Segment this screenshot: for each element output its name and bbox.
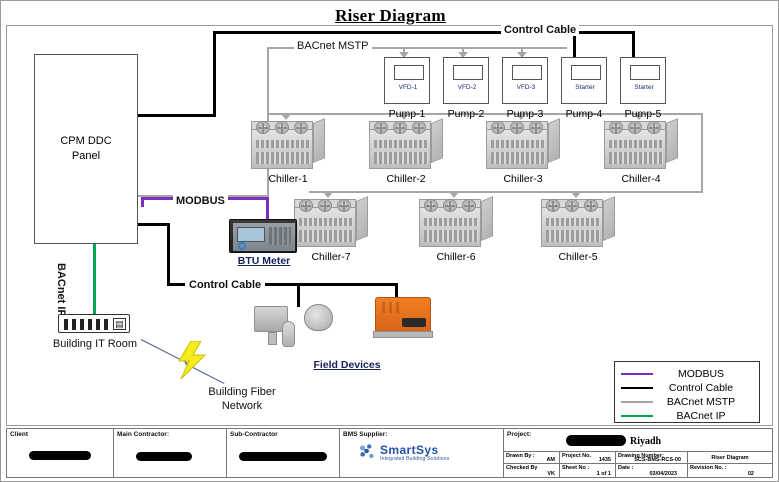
control-cable-segment [167, 223, 170, 285]
date-cell: Date : 03/04/2023 [616, 464, 688, 477]
fan-icon [275, 121, 289, 134]
chiller-unit[interactable]: Chiller-1 [251, 121, 325, 171]
client-caption: Client [10, 431, 28, 438]
drive-label: Starter [621, 84, 667, 91]
chiller-louvers [374, 152, 428, 164]
drawing-title-value: Riser Diagram [688, 455, 772, 461]
chiller-side [666, 118, 678, 163]
title-block: Client Main Contractor: Sub-Contractor B… [6, 428, 773, 478]
bus-label-modbus: MODBUS [173, 195, 228, 207]
checked-by-caption: Checked By [506, 465, 538, 471]
control-cable-segment [138, 114, 216, 117]
chiller-label: Chiller-1 [247, 173, 329, 185]
drawn-by-caption: Drawn By : [506, 453, 535, 459]
chiller-side [548, 118, 560, 163]
fan-icon [584, 199, 598, 212]
fan-icon [299, 199, 313, 212]
project-no-cell: Project No. 1435 [560, 452, 616, 465]
title-block-row-1: Drawn By : AM Project No. 1435 Drawing N… [504, 452, 772, 465]
legend-swatch [621, 387, 653, 390]
chiller-body [369, 129, 431, 169]
chiller-louvers [609, 152, 663, 164]
chiller-louvers [546, 230, 600, 242]
riser-diagram-page: Riser Diagram CPM DDC Panel [0, 0, 779, 482]
project-city: Riyadh [630, 436, 661, 447]
legend-row-4: BACnet IP [621, 409, 753, 423]
bus-label-control-cable-mid: Control Cable [185, 279, 265, 291]
control-cable-segment [213, 31, 216, 117]
chiller-unit[interactable]: Chiller-2 [369, 121, 443, 171]
fan-icon [491, 121, 505, 134]
fan-icon [628, 121, 642, 134]
drive-label: VFD-2 [444, 84, 490, 91]
sheet-no-value: 1 of 1 [597, 471, 611, 477]
chiller-label: Chiller-3 [482, 173, 564, 185]
chiller-side [481, 196, 493, 241]
drive-display [630, 65, 660, 80]
fan-icon [647, 121, 661, 134]
panel-label-line2: Panel [72, 150, 100, 162]
lightning-bolt-icon [177, 341, 217, 379]
chiller-louvers [256, 140, 310, 148]
fan-icon [374, 121, 388, 134]
drive-display [394, 65, 424, 80]
immersion-sensor-icon [282, 321, 295, 347]
drive-display [453, 65, 483, 80]
chiller-side [431, 118, 443, 163]
project-name-redacted [566, 435, 626, 446]
fiber-network-label: Building Fiber Network [187, 386, 297, 414]
chiller-louvers [299, 218, 353, 226]
chiller-side [356, 196, 368, 241]
supplier-name: SmartSys [380, 443, 439, 457]
legend-swatch [621, 415, 653, 418]
drive-label: Starter [562, 84, 608, 91]
control-cable-segment [138, 223, 170, 226]
drive-display [571, 65, 601, 80]
bacnet-arrow-icon [281, 114, 291, 120]
legend-row-3: BACnet MSTP [621, 395, 753, 409]
building-fiber-link [141, 331, 227, 389]
chiller-louvers [491, 152, 545, 164]
panel-label-line1: CPM DDC [60, 135, 111, 147]
building-it-switch[interactable]: ▤ [58, 314, 130, 333]
chiller-unit[interactable]: Chiller-7 [294, 199, 368, 249]
drive-display [512, 65, 542, 80]
bacnet-arrow-icon [323, 192, 333, 198]
drawing-number-cell: Drawing Number: SCS-BMS-RCS-00 [616, 452, 688, 465]
chiller-louvers [546, 218, 600, 226]
chiller-body [604, 129, 666, 169]
pressure-sensor-icon [304, 304, 333, 331]
bacnet-mstp-chiller-bus [309, 191, 702, 193]
project-no-value: 1435 [599, 457, 611, 463]
legend-label: BACnet IP [653, 410, 753, 422]
chiller-louvers [299, 230, 353, 242]
sub-contractor-caption: Sub-Contractor [230, 431, 278, 438]
fan-icon [565, 199, 579, 212]
fan-icon [424, 199, 438, 212]
revision-cell: Revision No. : 02 [688, 464, 772, 477]
network-uplink-icon: ▤ [113, 318, 126, 330]
legend-swatch [621, 401, 653, 404]
drive-1[interactable]: VFD-1 [384, 57, 430, 104]
title-block-sub-contractor: Sub-Contractor [226, 428, 339, 478]
bacnet-mstp-segment [701, 113, 703, 193]
drawn-by-value: AM [546, 457, 555, 463]
btu-meter-face [233, 223, 295, 251]
project-row: Project: Riyadh [504, 429, 772, 452]
chiller-body [419, 207, 481, 247]
checked-by-cell: Checked By VK [504, 464, 560, 477]
chiller-unit[interactable]: Chiller-5 [541, 199, 615, 249]
it-room-label: Building IT Room [47, 338, 143, 350]
valve-actuator-icon [375, 297, 431, 333]
fan-icon [443, 199, 457, 212]
legend: MODBUSControl CableBACnet MSTPBACnet IP [614, 361, 760, 423]
revision-caption: Revision No. : [690, 465, 727, 471]
chiller-louvers [609, 140, 663, 148]
date-caption: Date : [618, 465, 633, 471]
drive-4[interactable]: Starter [561, 57, 607, 104]
legend-row-2: Control Cable [621, 381, 753, 395]
fan-icon [412, 121, 426, 134]
drive-label: VFD-3 [503, 84, 549, 91]
btu-meter-keypad [269, 227, 291, 245]
btu-meter-logo-icon [238, 242, 246, 250]
control-cable-drop [297, 283, 300, 307]
bus-label-bacnet-mstp: BACnet MSTP [294, 40, 372, 52]
chiller-label: Chiller-6 [415, 251, 497, 263]
globe-icon [356, 442, 378, 462]
switch-ports-icon [64, 319, 108, 330]
sheet-no-cell: Sheet No : 1 of 1 [560, 464, 616, 477]
btu-meter[interactable] [229, 219, 297, 253]
title-block-project: Project: Riyadh Drawn By : AM Project No… [503, 428, 773, 478]
chiller-label: Chiller-2 [365, 173, 447, 185]
chiller-label: Chiller-5 [537, 251, 619, 263]
bacnet-ip-segment [93, 244, 96, 316]
bms-supplier-caption: BMS Supplier: [343, 431, 387, 438]
chiller-side [603, 196, 615, 241]
bacnet-arrow-icon [449, 192, 459, 198]
chiller-body [294, 207, 356, 247]
legend-label: MODBUS [653, 368, 753, 380]
sheet-no-caption: Sheet No : [562, 465, 589, 471]
sub-contractor-name-redacted [239, 452, 327, 461]
pump-label-5: Pump-5 [613, 108, 673, 120]
chiller-unit[interactable]: Chiller-3 [486, 121, 560, 171]
chiller-label: Chiller-4 [600, 173, 682, 185]
project-no-caption: Project No. [562, 453, 591, 459]
pump-label-2: Pump-2 [436, 108, 496, 120]
title-block-row-2: Checked By VK Sheet No : 1 of 1 Date : 0… [504, 464, 772, 477]
control-cable-drop-pump5 [632, 31, 635, 58]
chiller-louvers [424, 218, 478, 226]
title-block-bms-supplier: BMS Supplier: SmartSys Integrated Buildi… [339, 428, 503, 478]
revision-value: 02 [748, 471, 754, 477]
fan-icon [609, 121, 623, 134]
chiller-louvers [256, 152, 310, 164]
fan-icon [510, 121, 524, 134]
btu-meter-label: BTU Meter [223, 255, 305, 267]
date-value: 03/04/2023 [649, 471, 677, 477]
drive-label: VFD-1 [385, 84, 431, 91]
client-name-redacted [29, 451, 91, 460]
chiller-unit[interactable]: Chiller-4 [604, 121, 678, 171]
cpm-ddc-panel[interactable]: CPM DDC Panel [34, 54, 138, 244]
main-contractor-name-redacted [136, 452, 192, 461]
title-block-client: Client [6, 428, 113, 478]
chiller-side [313, 118, 325, 163]
legend-row-1: MODBUS [621, 367, 753, 381]
chiller-body [251, 129, 313, 169]
fan-icon [393, 121, 407, 134]
chiller-body [486, 129, 548, 169]
fan-icon [318, 199, 332, 212]
main-contractor-caption: Main Contractor: [117, 431, 169, 438]
modbus-segment [266, 197, 269, 221]
fan-icon [256, 121, 270, 134]
smartsys-logo: SmartSys Integrated Building Solutions [356, 441, 474, 465]
legend-label: Control Cable [653, 382, 753, 394]
title-block-main-contractor: Main Contractor: [113, 428, 226, 478]
fan-icon [462, 199, 476, 212]
chiller-louvers [374, 140, 428, 148]
bacnet-arrow-icon [571, 192, 581, 198]
fan-icon [546, 199, 560, 212]
drawing-title-cell: Riser Diagram [688, 452, 772, 465]
chiller-louvers [424, 230, 478, 242]
drive-3[interactable]: VFD-3 [502, 57, 548, 104]
supplier-tagline: Integrated Building Solutions [380, 456, 449, 462]
chiller-unit[interactable]: Chiller-6 [419, 199, 493, 249]
fan-icon [529, 121, 543, 134]
chiller-body [541, 207, 603, 247]
drawn-by-cell: Drawn By : AM [504, 452, 560, 465]
page-title: Riser Diagram [1, 6, 779, 26]
bus-label-control-cable-top: Control Cable [501, 24, 579, 36]
pump-label-4: Pump-4 [554, 108, 614, 120]
drive-5[interactable]: Starter [620, 57, 666, 104]
pump-label-3: Pump-3 [495, 108, 555, 120]
fan-icon [337, 199, 351, 212]
chiller-louvers [491, 140, 545, 148]
legend-swatch [621, 373, 653, 376]
pump-label-1: Pump-1 [377, 108, 437, 120]
btu-meter-display [237, 227, 265, 242]
project-caption: Project: [507, 431, 531, 438]
bus-label-bacnet-ip: BACnet IP [55, 263, 67, 317]
checked-by-value: VK [547, 471, 555, 477]
fan-icon [294, 121, 308, 134]
field-devices-label: Field Devices [297, 359, 397, 371]
drawing-number-value: SCS-BMS-RCS-00 [634, 457, 681, 463]
legend-label: BACnet MSTP [653, 396, 753, 408]
drive-2[interactable]: VFD-2 [443, 57, 489, 104]
